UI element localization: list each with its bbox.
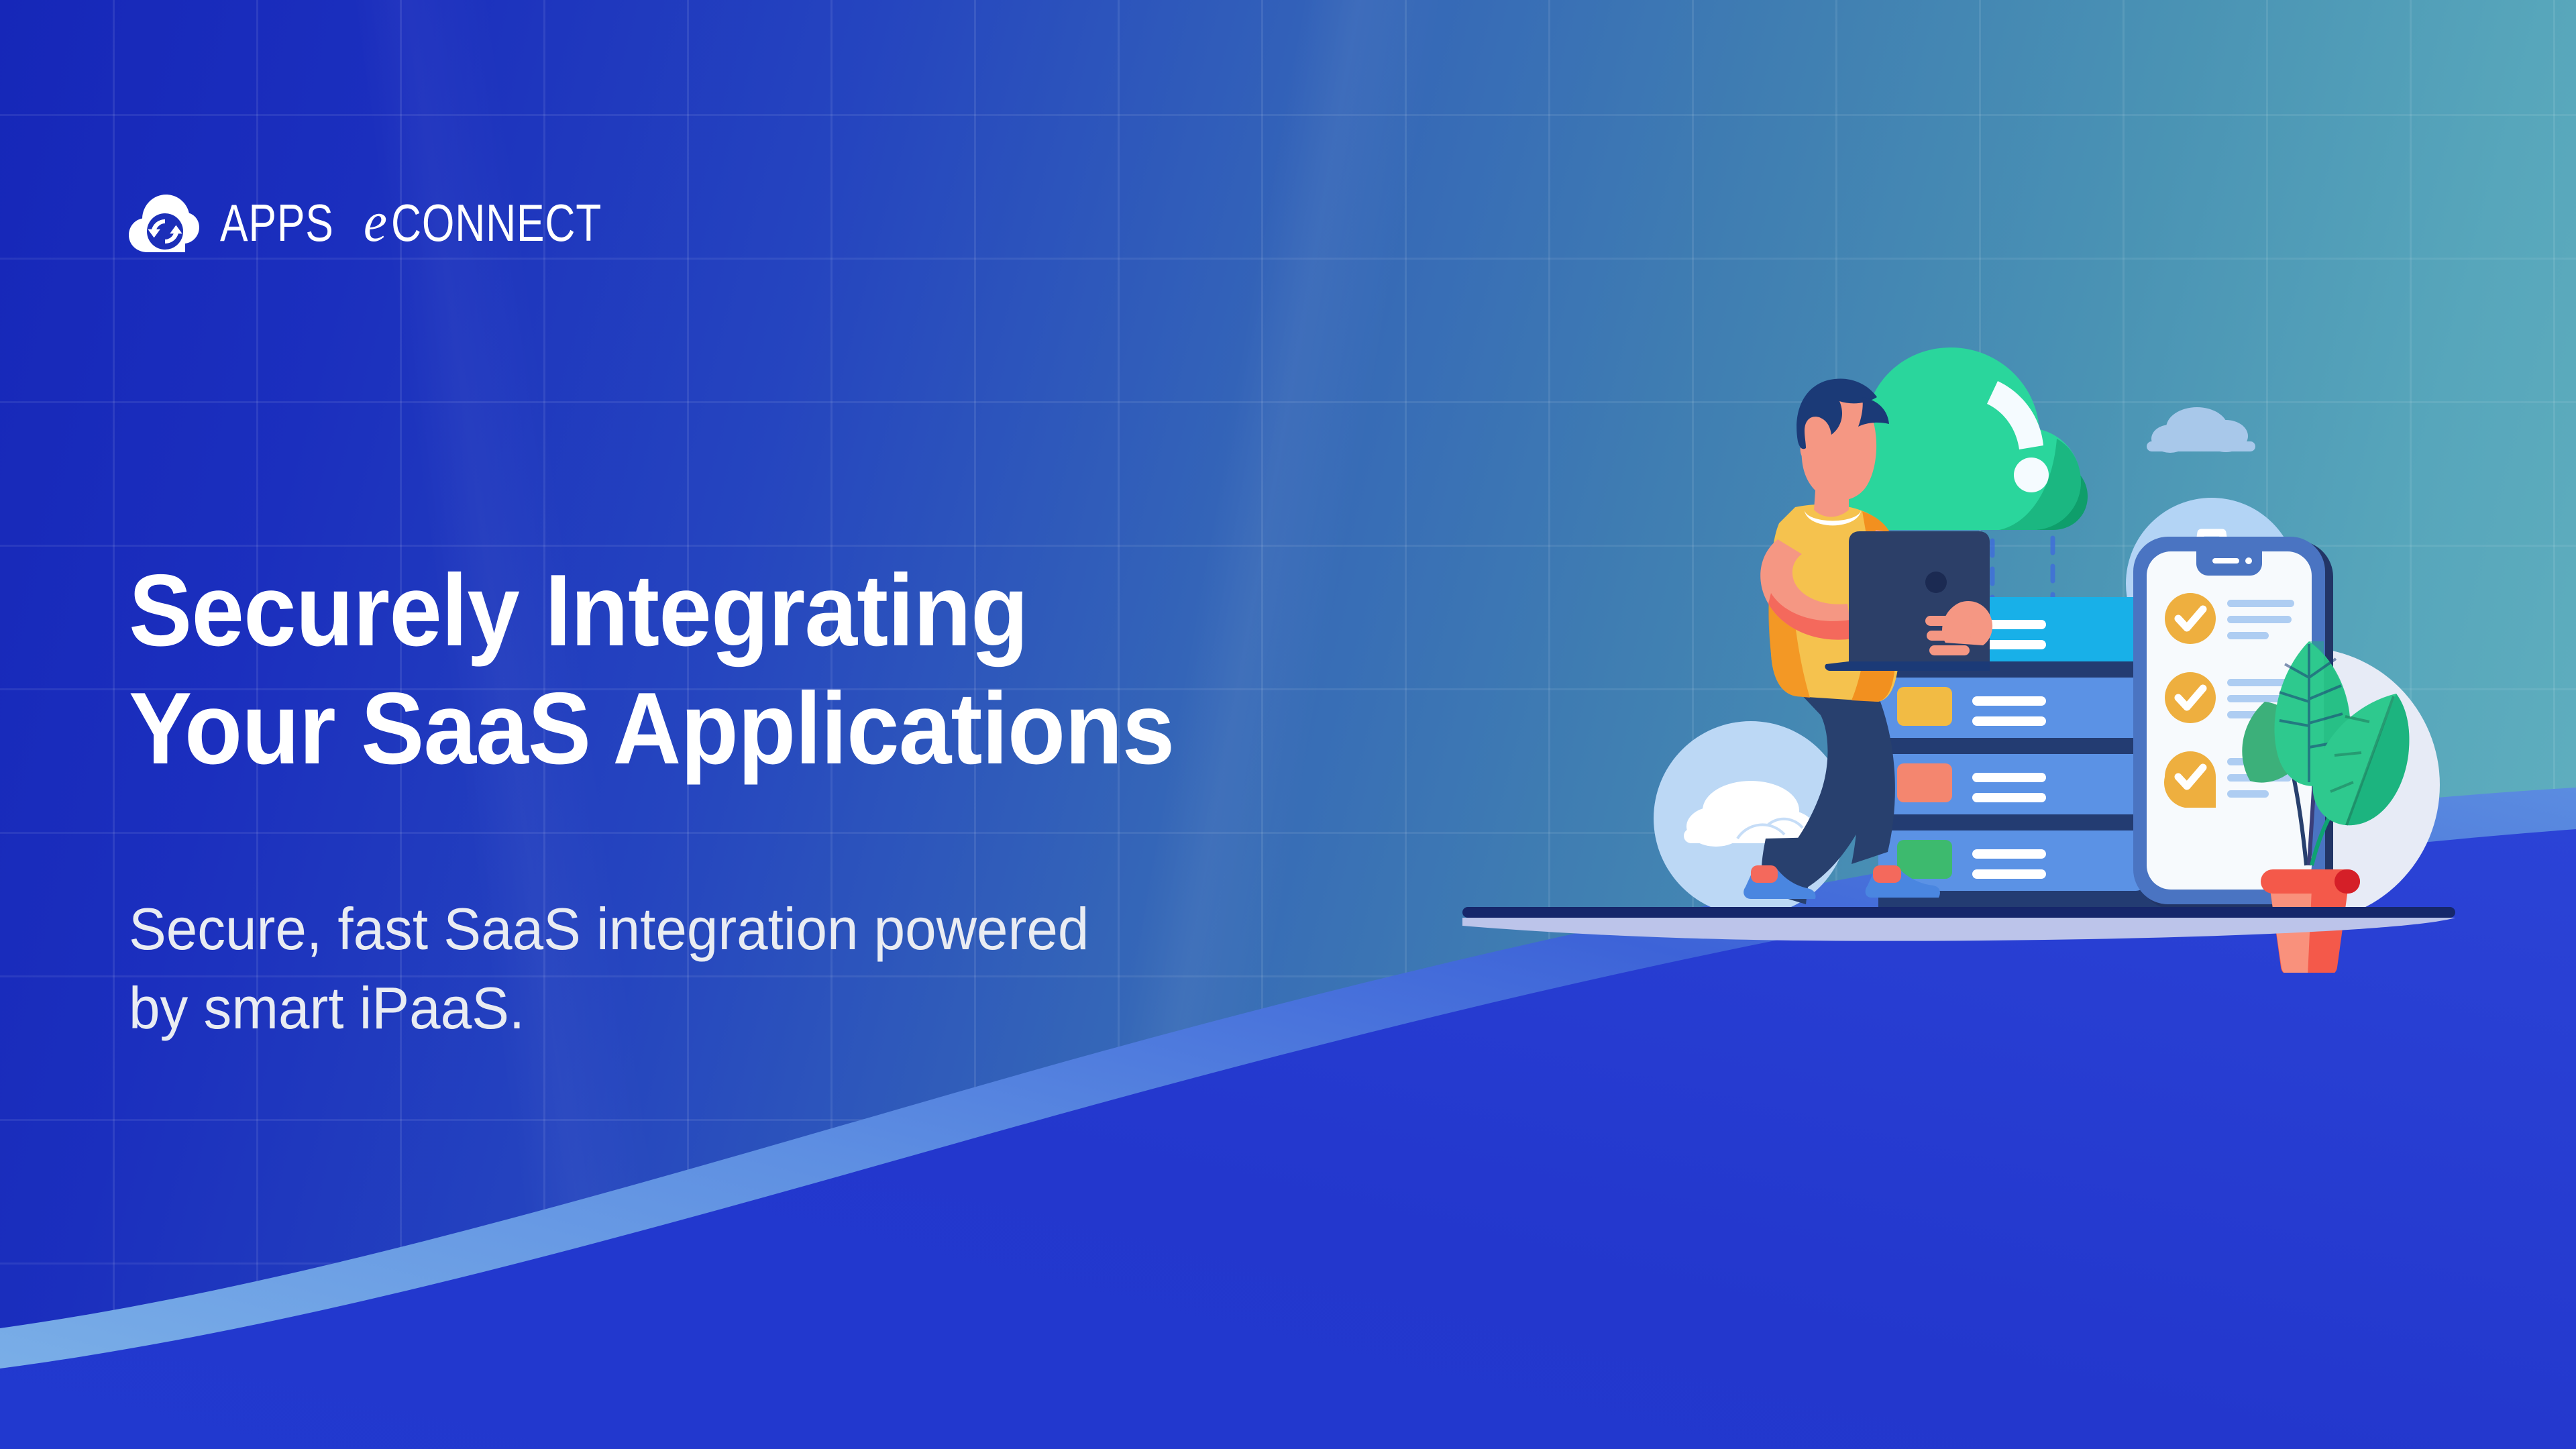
- sock-left: [1751, 865, 1778, 883]
- page-subtitle: Secure, fast SaaS integration powered by…: [129, 890, 1531, 1048]
- headline-line-2: Your SaaS Applications: [129, 669, 1439, 788]
- brand-wordmark: APPS e CONNECT: [220, 193, 655, 250]
- brand-name-script-e: e: [362, 193, 389, 250]
- small-cloud-icon: [2147, 407, 2255, 453]
- server-chip-green: [1897, 840, 1952, 879]
- illustration-svg: [1462, 329, 2455, 973]
- phone-camera: [2245, 557, 2252, 564]
- phone-speaker: [2212, 558, 2239, 563]
- laptop-logo: [1925, 572, 1947, 593]
- hero-banner: APPS e CONNECT Securely Integrating Your…: [0, 0, 2576, 1449]
- subtitle-line-1: Secure, fast SaaS integration powered: [129, 890, 1531, 969]
- brand-logo[interactable]: APPS e CONNECT: [127, 189, 655, 254]
- brand-name-part1: APPS: [220, 197, 334, 249]
- cloud-sync-icon: [127, 189, 200, 254]
- server-chip-yellow: [1897, 687, 1952, 726]
- brand-name-part2: CONNECT: [391, 197, 602, 249]
- hero-illustration: [1462, 329, 2455, 973]
- page-title: Securely Integrating Your SaaS Applicati…: [129, 551, 1439, 788]
- sock-right: [1873, 865, 1901, 883]
- headline-line-1: Securely Integrating: [129, 551, 1439, 669]
- server-chip-coral: [1897, 763, 1952, 802]
- subtitle-line-2: by smart iPaaS.: [129, 969, 1531, 1048]
